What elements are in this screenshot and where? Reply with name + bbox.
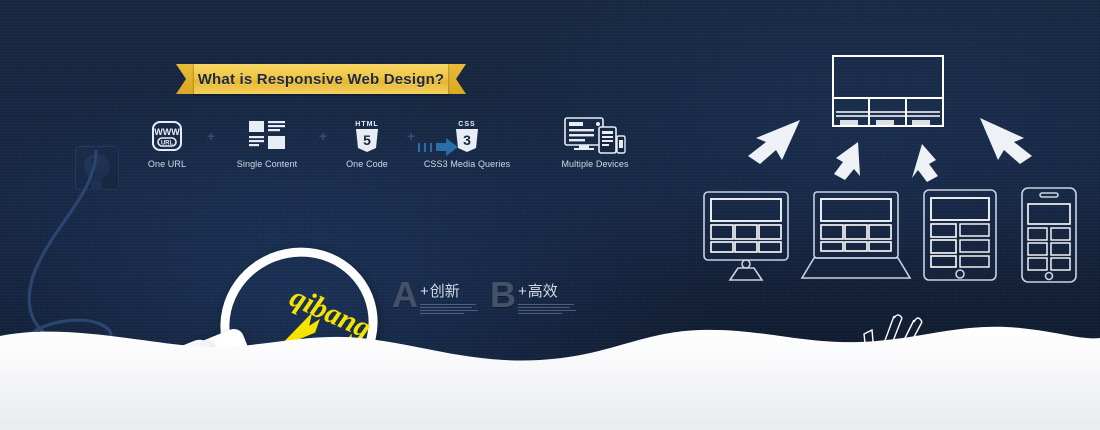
svg-text:5: 5 [363, 132, 371, 148]
laptop-icon [802, 192, 910, 278]
feature-label: One URL [132, 159, 202, 169]
svg-text:URL: URL [161, 141, 174, 147]
plus-separator-1: + [202, 118, 220, 154]
feature-multiple-devices[interactable]: Multiple Devices [540, 118, 650, 169]
hero-banner: What is Responsive Web Design? WWW URL O… [0, 0, 1100, 430]
page-title: What is Responsive Web Design? [176, 64, 466, 94]
arrow-down-icon [748, 118, 1032, 182]
tablet-icon [924, 190, 996, 280]
feature-label: Multiple Devices [540, 159, 650, 169]
html5-badge-icon: HTML 5 [332, 118, 402, 154]
url-browser-icon: WWW URL [132, 118, 202, 154]
motion-arrow-icon [418, 138, 458, 156]
responsive-master-layout [833, 56, 943, 126]
svg-text:HTML: HTML [355, 121, 378, 128]
plus-separator-2: + [314, 118, 332, 154]
feature-label: Single Content [220, 159, 314, 169]
white-wave-shape [0, 280, 1100, 430]
phone-icon [1022, 188, 1076, 282]
feature-single-content[interactable]: Single Content [220, 118, 314, 169]
multiple-devices-icon [540, 118, 650, 154]
feature-one-code[interactable]: HTML 5 One Code [332, 118, 402, 169]
feature-label: CSS3 Media Queries [420, 159, 514, 169]
svg-text:3: 3 [463, 132, 471, 148]
content-blocks-icon [220, 118, 314, 154]
responsive-device-diagram [690, 52, 1090, 292]
feature-row: WWW URL One URL + [132, 118, 650, 169]
desktop-icon [704, 192, 788, 280]
feature-label: One Code [332, 159, 402, 169]
svg-text:CSS: CSS [458, 121, 475, 128]
wall-socket-icon [75, 146, 119, 190]
headline-ribbon: What is Responsive Web Design? [176, 64, 466, 94]
feature-one-url[interactable]: WWW URL One URL [132, 118, 202, 169]
svg-text:WWW: WWW [154, 127, 180, 137]
